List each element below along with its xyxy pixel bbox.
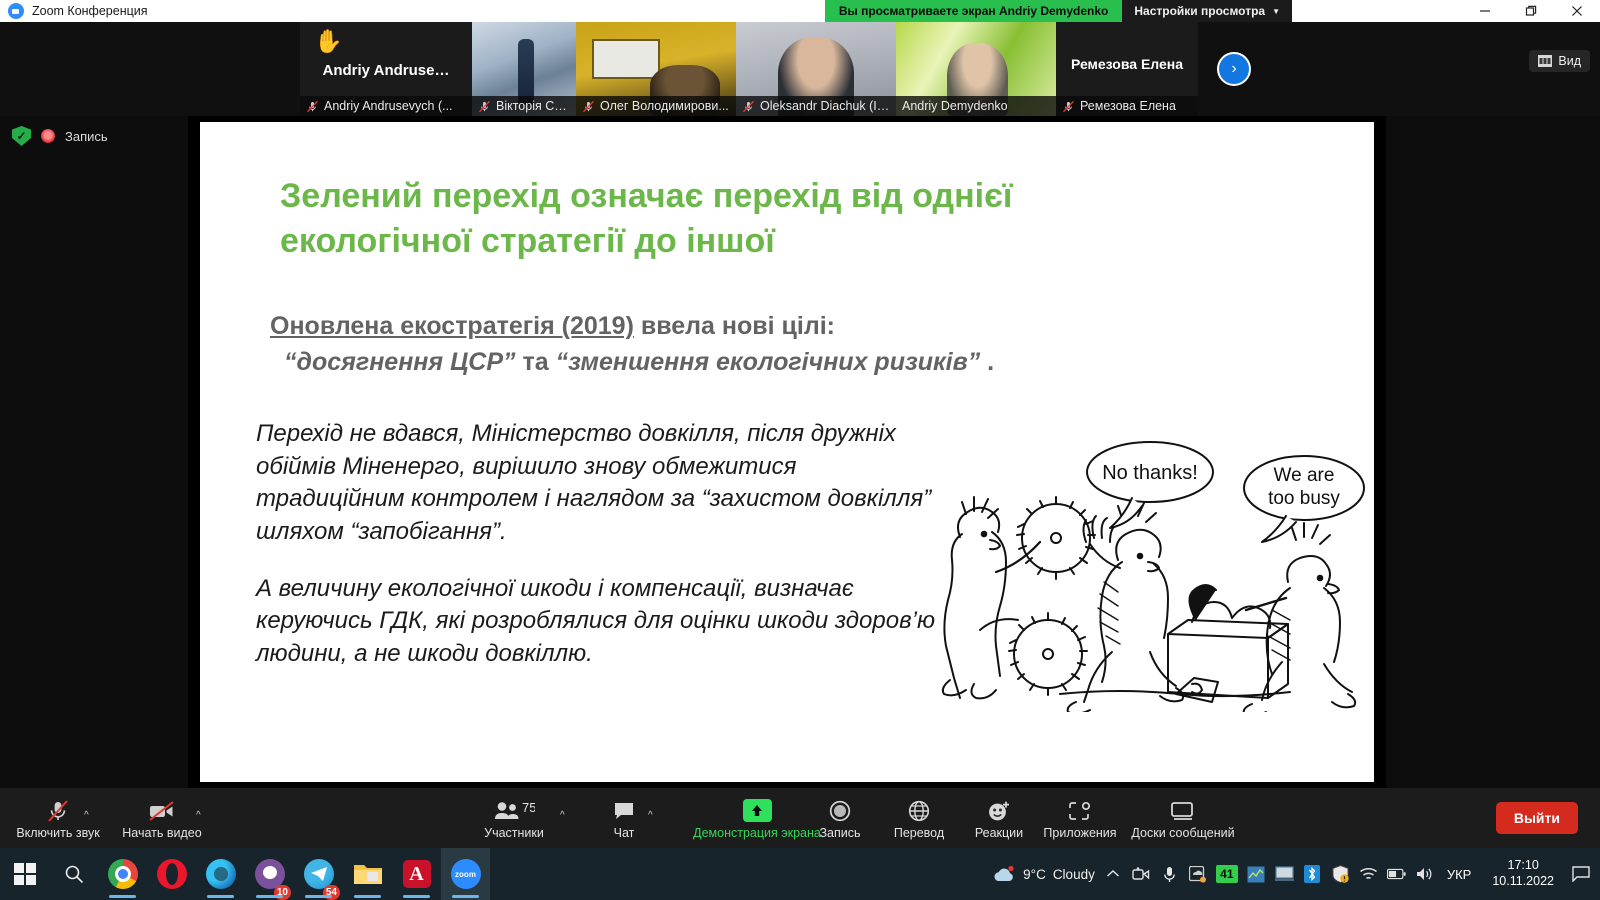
view-options-label: Настройки просмотра	[1134, 4, 1265, 18]
window-title: Zoom Конференция	[32, 4, 148, 18]
thumbnail-nameplate: Andriy Andrusevych (...	[300, 96, 472, 116]
raise-hand-icon: ✋	[314, 30, 343, 53]
record-label: Запись	[819, 826, 860, 840]
reactions-smiley-icon	[987, 798, 1011, 823]
slide-subtitle: Оновлена екостратегія (2019) ввела нові …	[270, 308, 1290, 381]
chevron-right-icon: ›	[1217, 52, 1251, 86]
presentation-slide: Зелений перехід означає перехід від одні…	[200, 122, 1374, 782]
keyboard-language-indicator[interactable]: УКР	[1443, 867, 1476, 882]
close-button[interactable]	[1554, 0, 1600, 22]
cartoon-bubble-2-line1: We are	[1274, 465, 1335, 486]
cartoon-bubble-2-line2: too busy	[1268, 488, 1340, 509]
weather-temperature: 9°C	[1023, 867, 1046, 882]
shared-screen-area[interactable]: Зелений перехід означає перехід від одні…	[188, 116, 1386, 788]
tray-onedrive-icon[interactable]	[1188, 865, 1207, 884]
microphone-muted-icon	[47, 798, 69, 823]
clock-date: 10.11.2022	[1492, 874, 1554, 890]
share-status-banner: Вы просматриваете экран Andriy Demydenko	[825, 0, 1123, 22]
thumbnail-oleksandr-diachuk[interactable]: Oleksandr Diachuk (IE...	[736, 22, 896, 116]
taskbar-search-button[interactable]	[49, 848, 98, 900]
file-explorer-icon	[353, 861, 383, 887]
taskbar-app-opera[interactable]	[147, 848, 196, 900]
thumbnail-name-text: Andriy Demydenko	[902, 99, 1008, 113]
thumbnail-andriy-demydenko[interactable]: Andriy Demydenko	[896, 22, 1056, 116]
taskbar-clock[interactable]: 17:10 10.11.2022	[1484, 858, 1562, 889]
unmute-label: Включить звук	[16, 826, 99, 840]
meeting-status-bar: Запись	[12, 126, 108, 146]
whiteboard-icon	[1170, 798, 1196, 823]
microphone-muted-icon	[742, 100, 755, 113]
thumbnail-nameplate: Олег Володимирови...	[576, 96, 736, 116]
taskbar-app-viber[interactable]: 10	[245, 848, 294, 900]
slide-title: Зелений перехід означає перехід від одні…	[280, 174, 1210, 264]
participants-caret-icon[interactable]: ^	[560, 810, 565, 821]
participants-label: Участники	[484, 826, 544, 840]
chat-bubble-icon	[613, 798, 635, 823]
microphone-muted-icon	[478, 100, 491, 113]
slide-goal-conj: та	[516, 348, 556, 376]
square-wheels-cartoon: No thanks! We are too busy	[900, 422, 1370, 712]
camera-muted-icon	[148, 798, 176, 823]
tray-camera-icon[interactable]	[1132, 865, 1151, 884]
zoom-meeting-window: Zoom Конференция Вы просматриваете экран…	[0, 0, 1600, 900]
slide-goal-1: “досягнення ЦСР”	[284, 348, 516, 376]
tray-microphone-icon[interactable]	[1160, 865, 1179, 884]
record-indicator-icon	[41, 129, 55, 143]
thumbnail-display-name: Andriy Andruse…	[300, 62, 472, 79]
zoom-controls-toolbar: Включить звук ^ Начать видео ^	[0, 788, 1600, 848]
minimize-button[interactable]	[1462, 0, 1508, 22]
participants-count: 75	[522, 801, 535, 815]
apps-label: Приложения	[1043, 826, 1116, 840]
thumbnail-andriy-andrusevych[interactable]: ✋ Andriy Andruse… Andriy Andrusevych (..…	[300, 22, 472, 116]
thumbnail-next-page[interactable]: ›	[1198, 22, 1270, 116]
apps-icon	[1068, 798, 1092, 823]
interpretation-label: Перевод	[894, 826, 944, 840]
viber-unread-badge: 10	[274, 885, 291, 900]
search-icon	[64, 864, 84, 884]
view-button-label: Вид	[1558, 54, 1581, 68]
whiteboards-button[interactable]: Доски сообщений	[1118, 793, 1248, 845]
taskbar-app-telegram[interactable]: 54	[294, 848, 343, 900]
tray-bluetooth-icon[interactable]	[1303, 865, 1322, 884]
weather-condition: Cloudy	[1053, 867, 1095, 882]
thumbnail-list: ✋ Andriy Andruse… Andriy Andrusevych (..…	[300, 22, 1270, 116]
record-circle-icon	[829, 798, 851, 823]
cartoon-bubble-1-text: No thanks!	[1102, 462, 1198, 484]
slide-goal-end: .	[980, 348, 994, 376]
zoom-logo-icon	[8, 3, 24, 19]
recording-label: Запись	[65, 129, 108, 144]
participant-thumbnail-strip: ✋ Andriy Andruse… Andriy Andrusevych (..…	[0, 22, 1600, 116]
windows-start-button[interactable]	[0, 848, 49, 900]
start-video-label: Начать видео	[122, 826, 201, 840]
window-titlebar: Zoom Конференция Вы просматриваете экран…	[0, 0, 1600, 22]
slide-body-text: Перехід не вдався, Міністерство довкілля…	[256, 418, 936, 670]
thumbnail-name-text: Ремезова Елена	[1080, 99, 1176, 113]
chat-label: Чат	[614, 826, 635, 840]
thumbnail-remezova-elena[interactable]: Ремезова Елена Ремезова Елена	[1056, 22, 1198, 116]
thumbnail-nameplate: Oleksandr Diachuk (IE...	[736, 96, 896, 116]
slide-paragraph-1: Перехід не вдався, Міністерство довкілля…	[256, 418, 936, 549]
apps-button[interactable]: Приложения	[1028, 793, 1132, 845]
tray-wifi-icon[interactable]	[1359, 865, 1378, 884]
share-screen-icon	[743, 798, 772, 823]
slide-paragraph-2: А величину екологічної шкоди і компенсац…	[256, 573, 936, 671]
leave-meeting-button[interactable]: Выйти	[1496, 802, 1578, 834]
thumbnail-name-text: Oleksandr Diachuk (IE...	[760, 99, 890, 113]
microphone-muted-icon	[582, 100, 595, 113]
unmute-button[interactable]: Включить звук	[6, 793, 110, 845]
counter-41-icon[interactable]: 41	[1216, 865, 1238, 883]
microphone-muted-icon	[306, 100, 319, 113]
thumbnail-name-text: Вікторія Скиба	[496, 99, 570, 113]
tray-volume-icon[interactable]	[1415, 865, 1434, 884]
grid-view-icon	[1538, 55, 1552, 67]
system-tray: 9°C Cloudy 41	[992, 858, 1600, 889]
show-hidden-icons-button[interactable]	[1104, 865, 1123, 884]
window-controls	[1462, 0, 1600, 22]
notification-center-button[interactable]	[1571, 865, 1590, 884]
thumbnail-nameplate: Ремезова Елена	[1056, 96, 1198, 116]
slide-goal-2: “зменшення екологічних ризиків”	[556, 348, 981, 376]
chrome-icon	[108, 859, 138, 889]
tray-display-icon[interactable]	[1275, 865, 1294, 884]
adobe-acrobat-icon: A	[403, 860, 431, 888]
microphone-muted-icon	[1062, 100, 1075, 113]
taskbar-weather-widget[interactable]: 9°C Cloudy	[992, 865, 1095, 884]
video-options-caret-icon[interactable]: ^	[196, 810, 201, 821]
windows-start-icon	[14, 863, 36, 885]
clock-time: 17:10	[1492, 858, 1554, 874]
chevron-up-icon	[1106, 869, 1120, 879]
opera-icon	[157, 859, 187, 889]
thumbnail-nameplate: Andriy Demydenko	[896, 96, 1056, 116]
thumbnail-nameplate: Вікторія Скиба	[472, 96, 576, 116]
chat-button[interactable]: Чат	[572, 793, 676, 845]
chat-caret-icon[interactable]: ^	[648, 810, 653, 821]
edge-icon	[206, 859, 236, 889]
reactions-label: Реакции	[975, 826, 1023, 840]
tray-network-monitor-icon[interactable]	[1247, 865, 1266, 884]
maximize-button[interactable]	[1508, 0, 1554, 22]
slide-subtitle-rest: ввела нові цілі:	[634, 312, 835, 340]
thumbnail-name-text: Andriy Andrusevych (...	[324, 99, 453, 113]
globe-icon	[908, 798, 930, 823]
taskbar-app-file-explorer[interactable]	[343, 848, 392, 900]
taskbar-app-zoom[interactable]: zoom	[441, 848, 490, 900]
view-button[interactable]: Вид	[1529, 50, 1590, 72]
participants-icon: 75	[493, 798, 535, 823]
tray-battery-icon[interactable]	[1387, 865, 1406, 884]
notification-icon	[1572, 866, 1590, 882]
zoom-icon: zoom	[451, 859, 481, 889]
taskbar-app-edge[interactable]	[196, 848, 245, 900]
taskbar-app-chrome[interactable]	[98, 848, 147, 900]
view-options-button[interactable]: Настройки просмотра ▼	[1122, 0, 1292, 22]
windows-taskbar: 10 54 A zoom	[0, 848, 1600, 900]
cloud-icon	[992, 865, 1016, 884]
taskbar-app-adobe-acrobat[interactable]: A	[392, 848, 441, 900]
chevron-down-icon: ▼	[1272, 7, 1280, 16]
audio-options-caret-icon[interactable]: ^	[84, 810, 89, 821]
thumbnail-oleg-volodymyrovych[interactable]: Олег Володимирови...	[576, 22, 736, 116]
shield-check-icon[interactable]	[12, 126, 31, 146]
whiteboards-label: Доски сообщений	[1131, 826, 1234, 840]
thumbnail-viktoria-skyba[interactable]: Вікторія Скиба	[472, 22, 576, 116]
telegram-unread-badge: 54	[323, 885, 340, 900]
tray-security-warning-icon[interactable]	[1331, 865, 1350, 884]
thumbnail-display-name: Ремезова Елена	[1056, 56, 1198, 72]
slide-subtitle-underlined: Оновлена екостратегія (2019)	[270, 312, 634, 340]
thumbnail-name-text: Олег Володимирови...	[600, 99, 729, 113]
participants-button[interactable]: 75 Участники	[462, 793, 566, 845]
